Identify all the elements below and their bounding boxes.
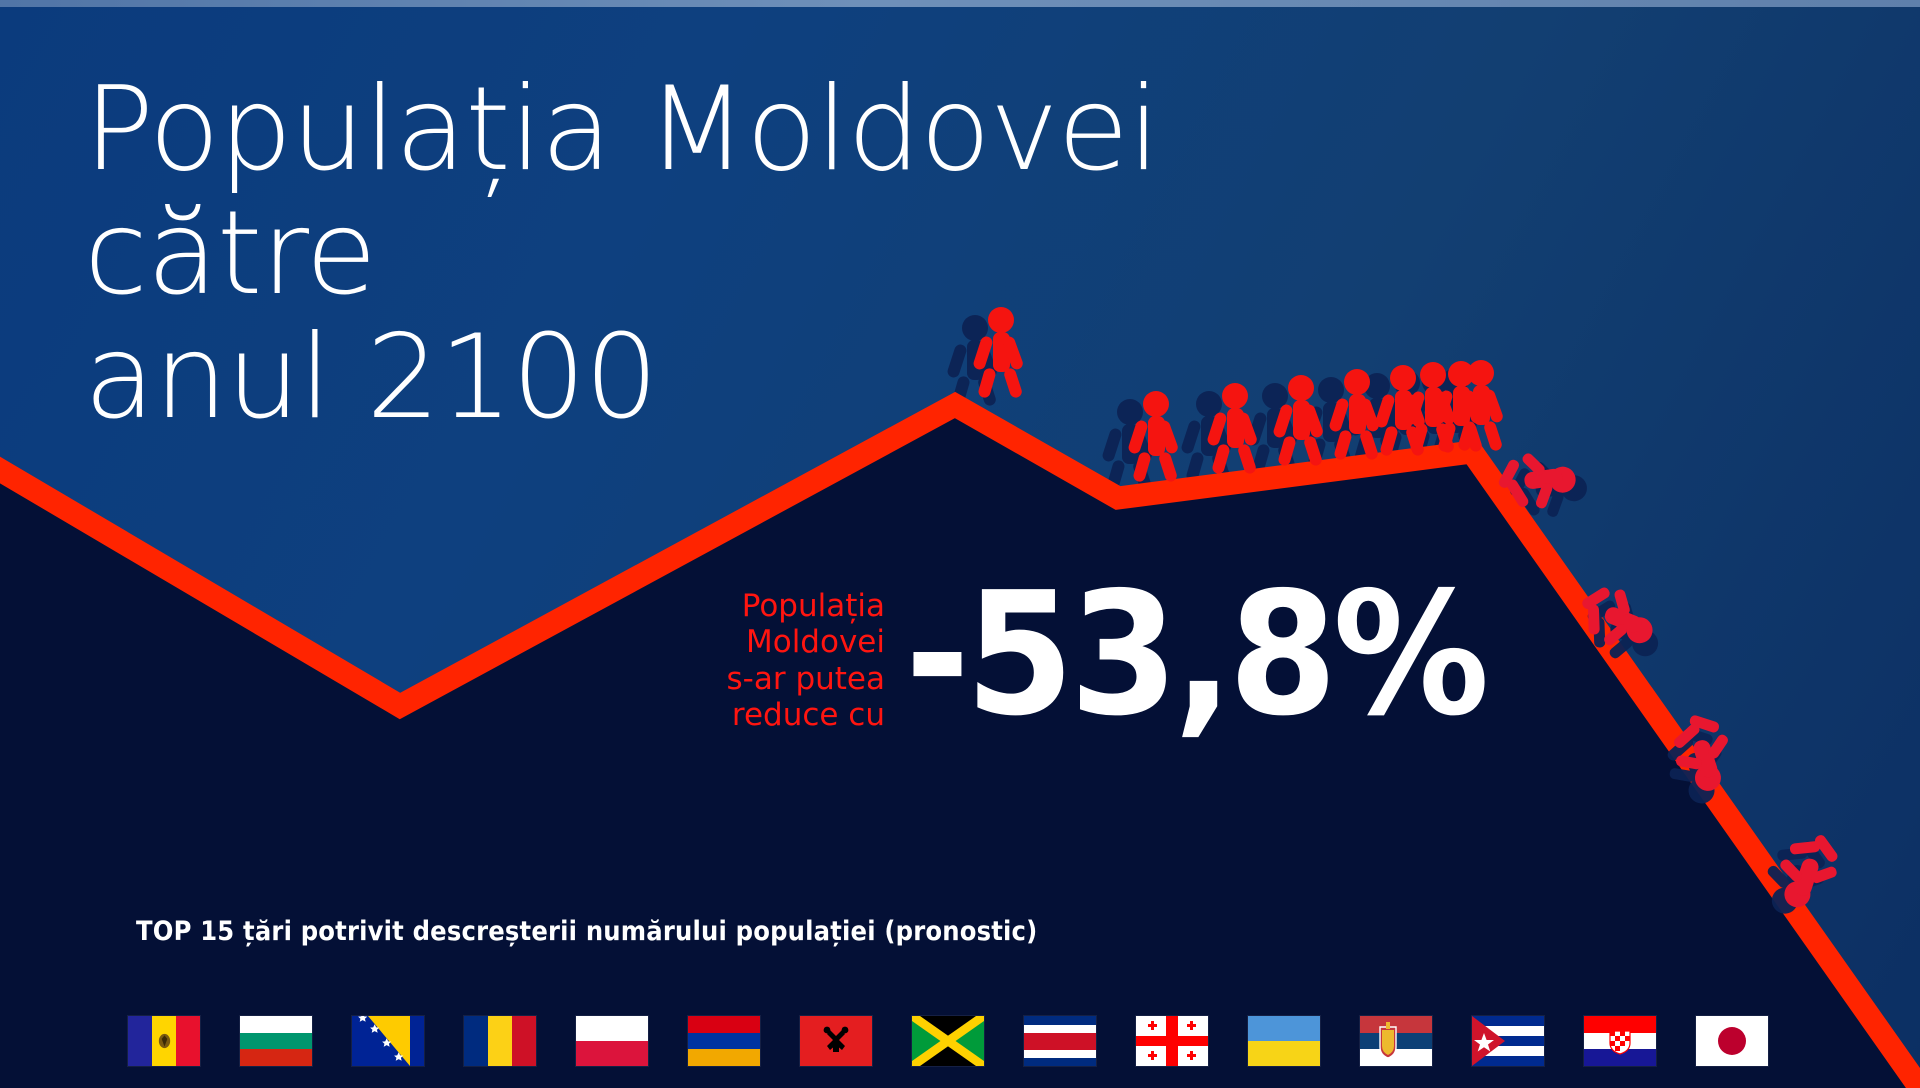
infographic-canvas: Populația Moldovei către anul 2100 Popul…	[0, 0, 1920, 1088]
flag-georgia-icon	[1136, 1016, 1208, 1066]
flag-serbia-icon	[1360, 1016, 1432, 1066]
flag-bosnia-icon	[352, 1016, 424, 1066]
flag-japan-icon	[1696, 1016, 1768, 1066]
flag-strip	[128, 1016, 1768, 1066]
flag-cuba-icon	[1472, 1016, 1544, 1066]
flag-ukraine-icon	[1248, 1016, 1320, 1066]
flag-bulgaria-icon	[240, 1016, 312, 1066]
flag-moldova-icon	[128, 1016, 200, 1066]
flag-armenia-icon	[688, 1016, 760, 1066]
flag-poland-icon	[576, 1016, 648, 1066]
flag-croatia-icon	[1584, 1016, 1656, 1066]
callout-percentage: -53,8%	[905, 581, 1485, 731]
flag-jamaica-icon	[912, 1016, 984, 1066]
callout-label: Populația Moldovei s-ar putea reduce cu	[700, 588, 885, 733]
flag-romania-icon	[464, 1016, 536, 1066]
flag-costarica-icon	[1024, 1016, 1096, 1066]
page-title: Populația Moldovei către anul 2100	[84, 68, 1384, 440]
chart-caption: TOP 15 țări potrivit descreșterii număru…	[136, 916, 1037, 947]
callout-block: Populația Moldovei s-ar putea reduce cu …	[700, 588, 1535, 733]
flag-albania-icon	[800, 1016, 872, 1066]
